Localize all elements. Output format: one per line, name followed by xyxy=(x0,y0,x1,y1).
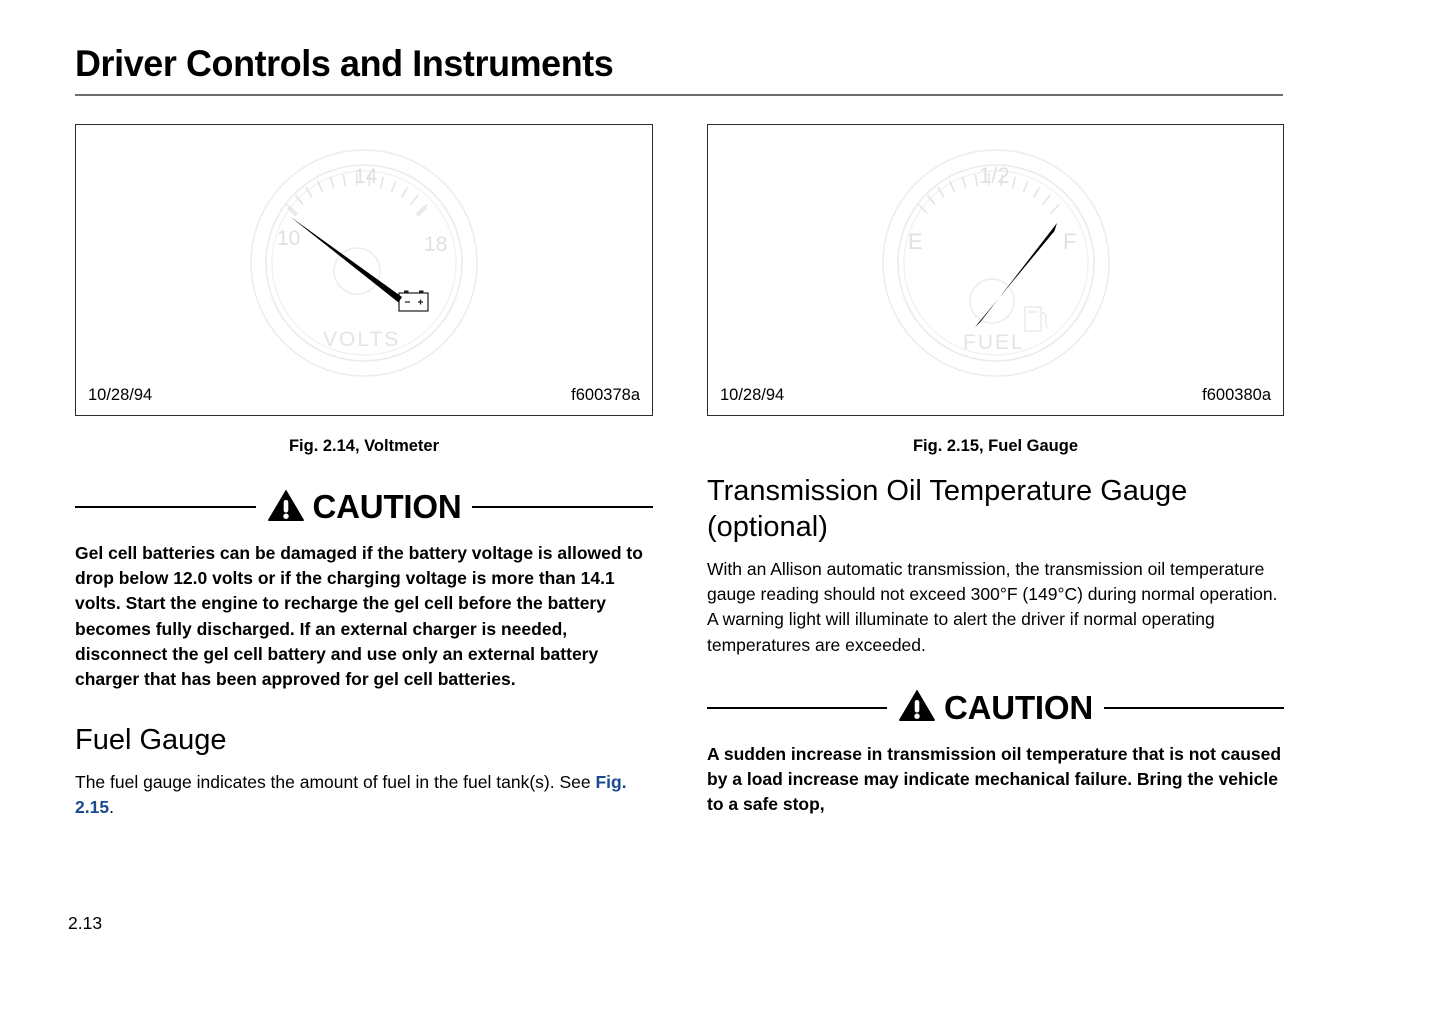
fuel-gauge-svg: E 1/2 F FUEL xyxy=(871,141,1121,391)
voltmeter-label-low: 10 xyxy=(277,227,300,250)
caution-rule-right xyxy=(1104,707,1284,709)
fuel-gauge-label-mid: 1/2 xyxy=(979,163,1010,188)
body-text-before: The fuel gauge indicates the amount of f… xyxy=(75,772,595,792)
document-page: Driver Controls and Instruments xyxy=(0,0,1445,1018)
caution-core: CAUTION xyxy=(256,488,473,527)
caution-rule-right xyxy=(472,506,653,508)
right-column: E 1/2 F FUEL 10/28/94 f600 xyxy=(707,124,1284,817)
page-title: Driver Controls and Instruments xyxy=(75,42,1283,86)
caution-body-right: A sudden increase in transmission oil te… xyxy=(707,742,1284,818)
fuel-gauge-face-text: FUEL xyxy=(963,331,1025,354)
caution-word: CAUTION xyxy=(313,490,462,524)
voltmeter-gauge: 10 14 18 VOLTS xyxy=(239,141,489,391)
section-heading-fuel-gauge: Fuel Gauge xyxy=(75,722,653,758)
figure-caption-fuel-gauge: Fig. 2.15, Fuel Gauge xyxy=(707,435,1284,457)
header-divider xyxy=(75,94,1283,96)
fuel-gauge-needle xyxy=(975,223,1057,327)
caution-word: CAUTION xyxy=(944,691,1093,725)
voltmeter-label-high: 18 xyxy=(424,233,447,256)
caution-body-left: Gel cell batteries can be damaged if the… xyxy=(75,541,653,692)
section-heading-trans-oil-temp: Transmission Oil Temperature Gauge (opti… xyxy=(707,473,1284,545)
figure-id: f600378a xyxy=(571,385,640,405)
figure-id: f600380a xyxy=(1202,385,1271,405)
fuel-gauge-label-high: F xyxy=(1063,229,1076,254)
voltmeter-face-text: VOLTS xyxy=(323,328,400,351)
voltmeter-needle xyxy=(290,217,402,303)
caution-rule-left xyxy=(75,506,256,508)
figure-meta-voltmeter: 10/28/94 f600378a xyxy=(76,385,652,405)
fuel-gauge: E 1/2 F FUEL xyxy=(871,141,1121,391)
page-number: 2.13 xyxy=(68,912,102,934)
section-body-fuel-gauge: The fuel gauge indicates the amount of f… xyxy=(75,770,653,820)
body-text-after: . xyxy=(109,797,114,817)
figure-caption-voltmeter: Fig. 2.14, Voltmeter xyxy=(75,435,653,457)
battery-icon xyxy=(399,291,428,312)
warning-triangle-icon xyxy=(898,688,936,727)
figure-frame-voltmeter: 10 14 18 VOLTS xyxy=(75,124,653,416)
figure-frame-fuel-gauge: E 1/2 F FUEL 10/28/94 f600 xyxy=(707,124,1284,416)
warning-triangle-icon xyxy=(267,488,305,527)
caution-rule-left xyxy=(707,707,887,709)
caution-core: CAUTION xyxy=(887,688,1104,727)
left-column: 10 14 18 VOLTS xyxy=(75,124,653,821)
fuel-pump-icon xyxy=(1025,307,1049,331)
figure-meta-fuel-gauge: 10/28/94 f600380a xyxy=(708,385,1283,405)
fuel-gauge-label-low: E xyxy=(908,229,923,254)
figure-date: 10/28/94 xyxy=(88,385,152,405)
caution-banner-left: CAUTION xyxy=(75,487,653,527)
figure-date: 10/28/94 xyxy=(720,385,784,405)
section-body-trans-oil-temp: With an Allison automatic transmission, … xyxy=(707,557,1284,658)
voltmeter-label-mid: 14 xyxy=(354,165,378,188)
page-title-text: Driver Controls and Instruments xyxy=(75,42,1247,86)
voltmeter-svg: 10 14 18 VOLTS xyxy=(239,141,489,391)
caution-banner-right: CAUTION xyxy=(707,688,1284,728)
